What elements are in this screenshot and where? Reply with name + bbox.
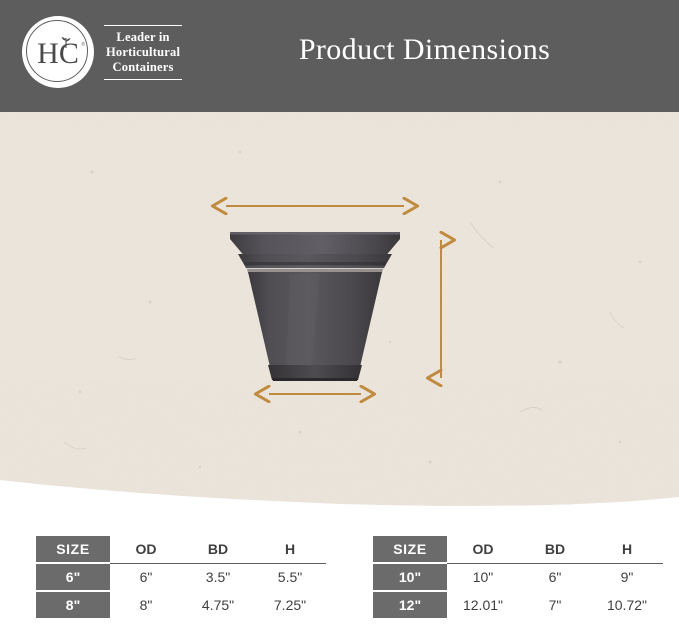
cell-size: 6" <box>36 563 110 591</box>
column-header-h: H <box>591 536 663 563</box>
cell-size: 10" <box>373 563 447 591</box>
table-row: 12" 12.01" 7" 10.72" <box>373 591 663 618</box>
cell-od: 10" <box>447 563 519 591</box>
cell-bd: 3.5" <box>182 563 254 591</box>
cell-h: 10.72" <box>591 591 663 618</box>
cell-bd: 7" <box>519 591 591 618</box>
column-header-size: SIZE <box>373 536 447 563</box>
column-header-od: OD <box>447 536 519 563</box>
pot-band-upper <box>244 262 386 265</box>
page-title: Product Dimensions <box>0 33 679 67</box>
cell-h: 5.5" <box>254 563 326 591</box>
column-header-h: H <box>254 536 326 563</box>
large-sizes-table-wrap: SIZE OD BD H 10" 10" 6" 9" 12" <box>373 536 663 618</box>
pot-rim-highlight <box>230 232 400 235</box>
column-header-od: OD <box>110 536 182 563</box>
pot-foot <box>268 365 362 380</box>
column-header-bd: BD <box>182 536 254 563</box>
cell-bd: 6" <box>519 563 591 591</box>
cell-h: 7.25" <box>254 591 326 618</box>
pot-band-ridge <box>245 266 385 269</box>
column-header-bd: BD <box>519 536 591 563</box>
cell-size: 12" <box>373 591 447 618</box>
table-row: 8" 8" 4.75" 7.25" <box>36 591 326 618</box>
cell-od: 6" <box>110 563 182 591</box>
table-row: 10" 10" 6" 9" <box>373 563 663 591</box>
cell-od: 8" <box>110 591 182 618</box>
cell-bd: 4.75" <box>182 591 254 618</box>
header-bar: HC ® Leader in Horticultural Containers … <box>0 0 679 112</box>
column-header-size: SIZE <box>36 536 110 563</box>
small-sizes-table: SIZE OD BD H 6" 6" 3.5" 5.5" 8" <box>36 536 326 618</box>
small-sizes-table-wrap: SIZE OD BD H 6" 6" 3.5" 5.5" 8" <box>36 536 326 618</box>
cell-h: 9" <box>591 563 663 591</box>
cell-od: 12.01" <box>447 591 519 618</box>
table-header-row: SIZE OD BD H <box>36 536 326 563</box>
product-dimensions-infographic: HC ® Leader in Horticultural Containers … <box>0 0 679 636</box>
large-sizes-table: SIZE OD BD H 10" 10" 6" 9" 12" <box>373 536 663 618</box>
pot-rim-shoulder <box>238 254 392 268</box>
table-row: 6" 6" 3.5" 5.5" <box>36 563 326 591</box>
table-header-row: SIZE OD BD H <box>373 536 663 563</box>
cell-size: 8" <box>36 591 110 618</box>
pot-foot-shadow <box>272 378 358 381</box>
planter-pot-illustration <box>224 228 406 388</box>
size-tables: SIZE OD BD H 6" 6" 3.5" 5.5" 8" <box>0 536 679 618</box>
